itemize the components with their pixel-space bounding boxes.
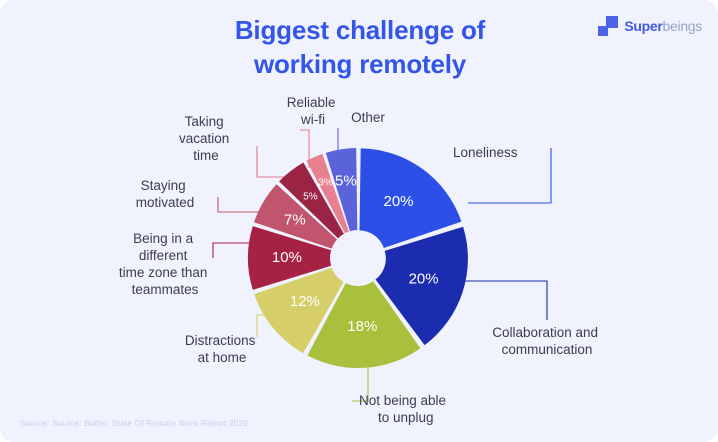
pie-category-labels: Loneliness Collaboration and communicati… (119, 95, 602, 425)
label-other: Other (351, 110, 385, 125)
source-note: Source: Source: Buffer, State Of Remote … (20, 419, 248, 428)
label-collaboration: Collaboration and communication (492, 325, 602, 357)
leader-line-vacation (257, 146, 287, 177)
label-timezone: Being in a different time zone than team… (119, 231, 211, 297)
label-motivated: Staying motivated (136, 178, 195, 210)
value-unplug: 18% (347, 318, 377, 335)
value-other: 5% (335, 172, 357, 189)
value-motivated: 7% (284, 212, 306, 229)
value-distractions: 12% (290, 293, 320, 310)
value-wifi: 3% (318, 177, 333, 188)
label-wifi: Reliable wi-fi (287, 95, 340, 127)
label-loneliness: Loneliness (453, 145, 518, 160)
label-unplug: Not being able to unplug (359, 393, 450, 425)
pie-chart: 20% 20% 18% 12% 10% 7% 5% 3% 5% Loneline… (0, 0, 718, 442)
value-collaboration: 20% (409, 270, 439, 287)
value-vacation: 5% (303, 191, 318, 202)
value-timezone: 10% (272, 249, 302, 266)
infographic-card: Biggest challenge of working remotely Su… (0, 0, 718, 442)
leader-line-collaboration (462, 281, 547, 320)
label-distractions: Distractions at home (185, 333, 259, 365)
label-vacation: Taking vacation time (179, 114, 233, 163)
value-loneliness: 20% (383, 193, 413, 210)
